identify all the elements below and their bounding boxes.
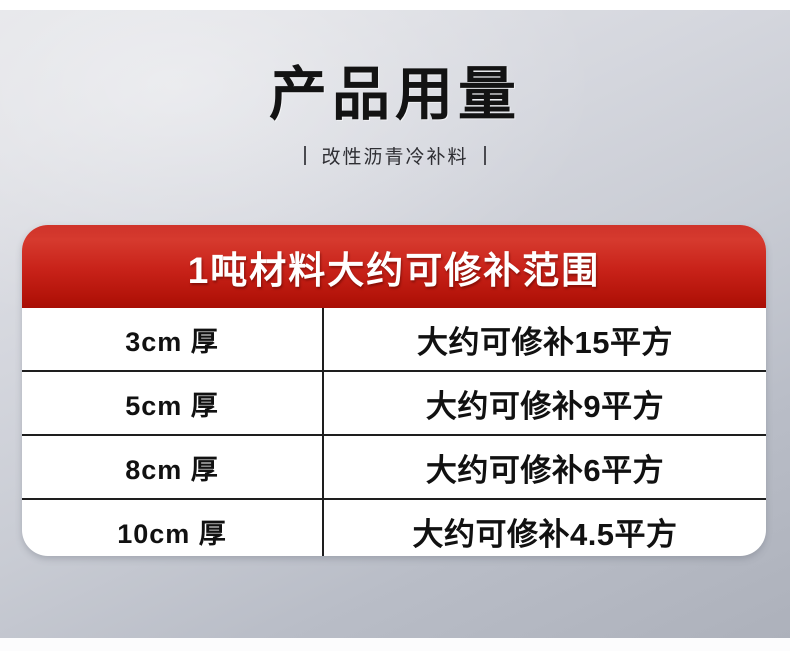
table-row: 10cm 厚 大约可修补4.5平方	[22, 500, 766, 556]
left-divider-bar-icon	[304, 146, 306, 165]
usage-table: 3cm 厚 大约可修补15平方 5cm 厚 大约可修补9平方 8cm 厚 大约可…	[22, 308, 766, 556]
table-row: 8cm 厚 大约可修补6平方	[22, 436, 766, 500]
cell-coverage: 大约可修补9平方	[324, 372, 766, 434]
cell-coverage: 大约可修补4.5平方	[324, 500, 766, 556]
bottom-white-strip	[0, 638, 790, 651]
table-header-banner: 1吨材料大约可修补范围	[22, 225, 766, 308]
header-block: 产品用量 改性沥青冷补料	[0, 62, 790, 169]
cell-thickness: 8cm 厚	[22, 436, 324, 498]
cell-coverage: 大约可修补15平方	[324, 308, 766, 370]
cell-thickness: 5cm 厚	[22, 372, 324, 434]
product-usage-infographic: 产品用量 改性沥青冷补料 1吨材料大约可修补范围 3cm 厚 大约可修补15平方…	[0, 0, 790, 651]
table-header-title: 1吨材料大约可修补范围	[188, 240, 601, 294]
cell-coverage: 大约可修补6平方	[324, 436, 766, 498]
cell-thickness: 3cm 厚	[22, 308, 324, 370]
usage-table-card: 1吨材料大约可修补范围 3cm 厚 大约可修补15平方 5cm 厚 大约可修补9…	[22, 225, 766, 556]
cell-thickness: 10cm 厚	[22, 500, 324, 556]
page-subtitle: 改性沥青冷补料	[321, 142, 468, 169]
table-row: 5cm 厚 大约可修补9平方	[22, 372, 766, 436]
right-divider-bar-icon	[484, 146, 486, 165]
subtitle-row: 改性沥青冷补料	[0, 142, 790, 169]
table-row: 3cm 厚 大约可修补15平方	[22, 308, 766, 372]
page-title: 产品用量	[0, 62, 790, 129]
